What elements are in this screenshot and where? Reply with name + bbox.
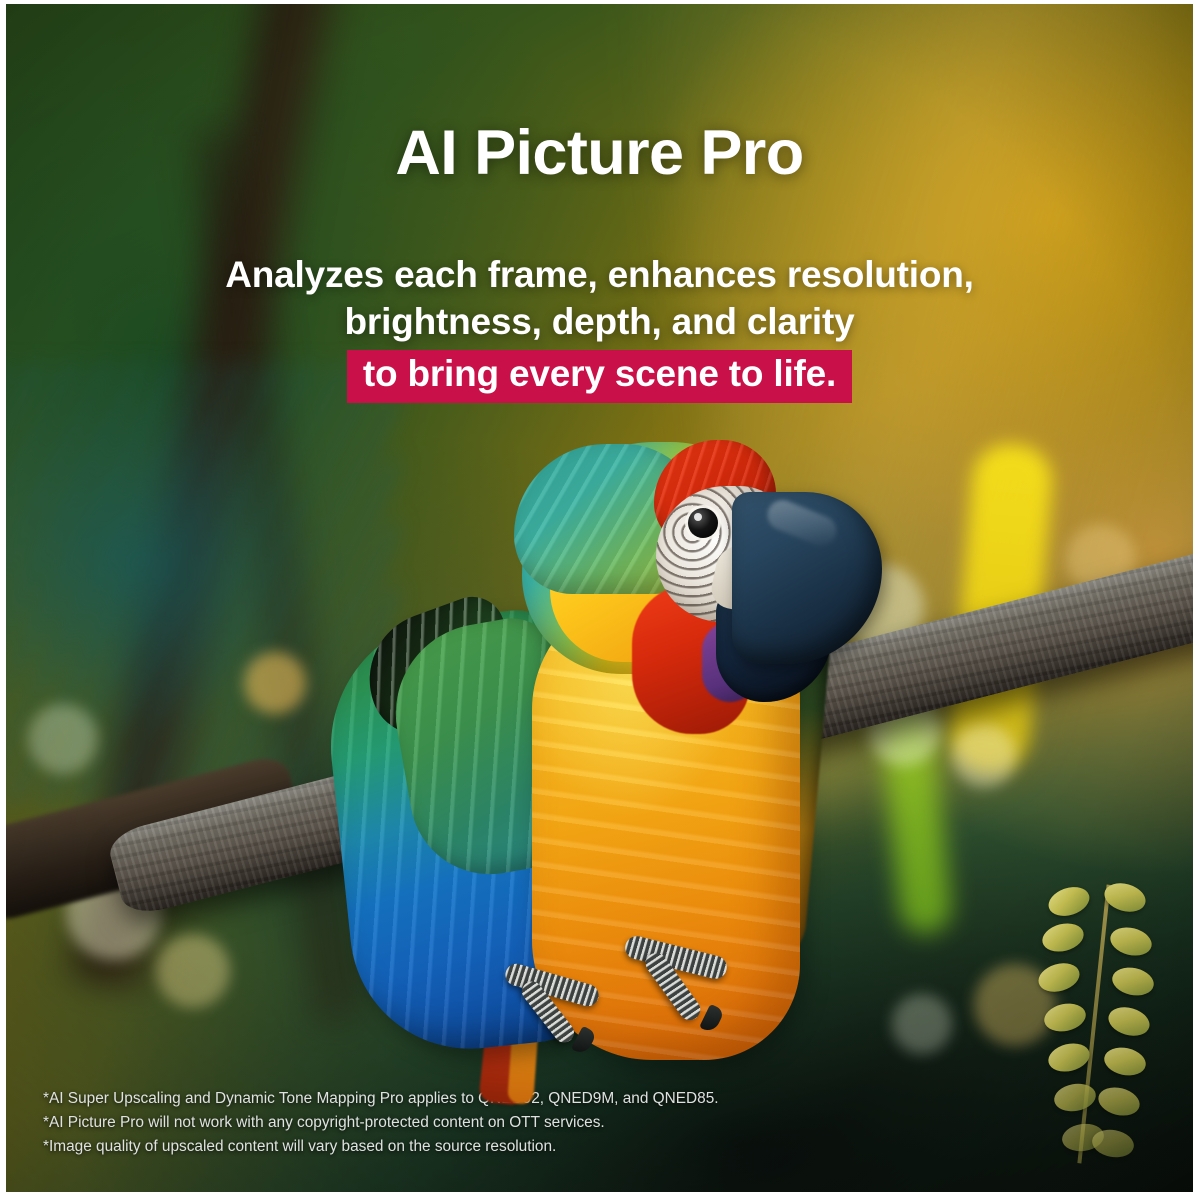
hero-photo: AI Picture Pro Analyzes each frame, enha… [6,4,1193,1192]
bokeh-disc [156,934,230,1008]
eye-glint [694,513,702,521]
bokeh-disc [892,994,952,1054]
leaf-stem [1077,885,1110,1164]
subtitle-line-2: brightness, depth, and clarity [6,299,1193,346]
leaf-spray [1018,884,1168,1174]
banner-stage: AI Picture Pro Analyzes each frame, enha… [0,0,1200,1200]
page-title: AI Picture Pro [6,122,1193,185]
highlight-badge: to bring every scene to life. [347,350,852,403]
footnote-line: *AI Super Upscaling and Dynamic Tone Map… [43,1087,719,1111]
subtitle-line-1: Analyzes each frame, enhances resolution… [6,252,1193,299]
bokeh-disc [28,704,98,774]
bokeh-disc [952,724,1016,788]
subtitle-block: Analyzes each frame, enhances resolution… [6,252,1193,403]
footnote-line: *Image quality of upscaled content will … [43,1135,719,1159]
macaw-parrot [336,434,856,1074]
bokeh-disc [244,652,306,714]
eye [688,508,718,538]
highlight-wrap: to bring every scene to life. [6,350,1193,403]
footnote-line: *AI Picture Pro will not work with any c… [43,1111,719,1135]
footnotes: *AI Super Upscaling and Dynamic Tone Map… [43,1087,719,1159]
